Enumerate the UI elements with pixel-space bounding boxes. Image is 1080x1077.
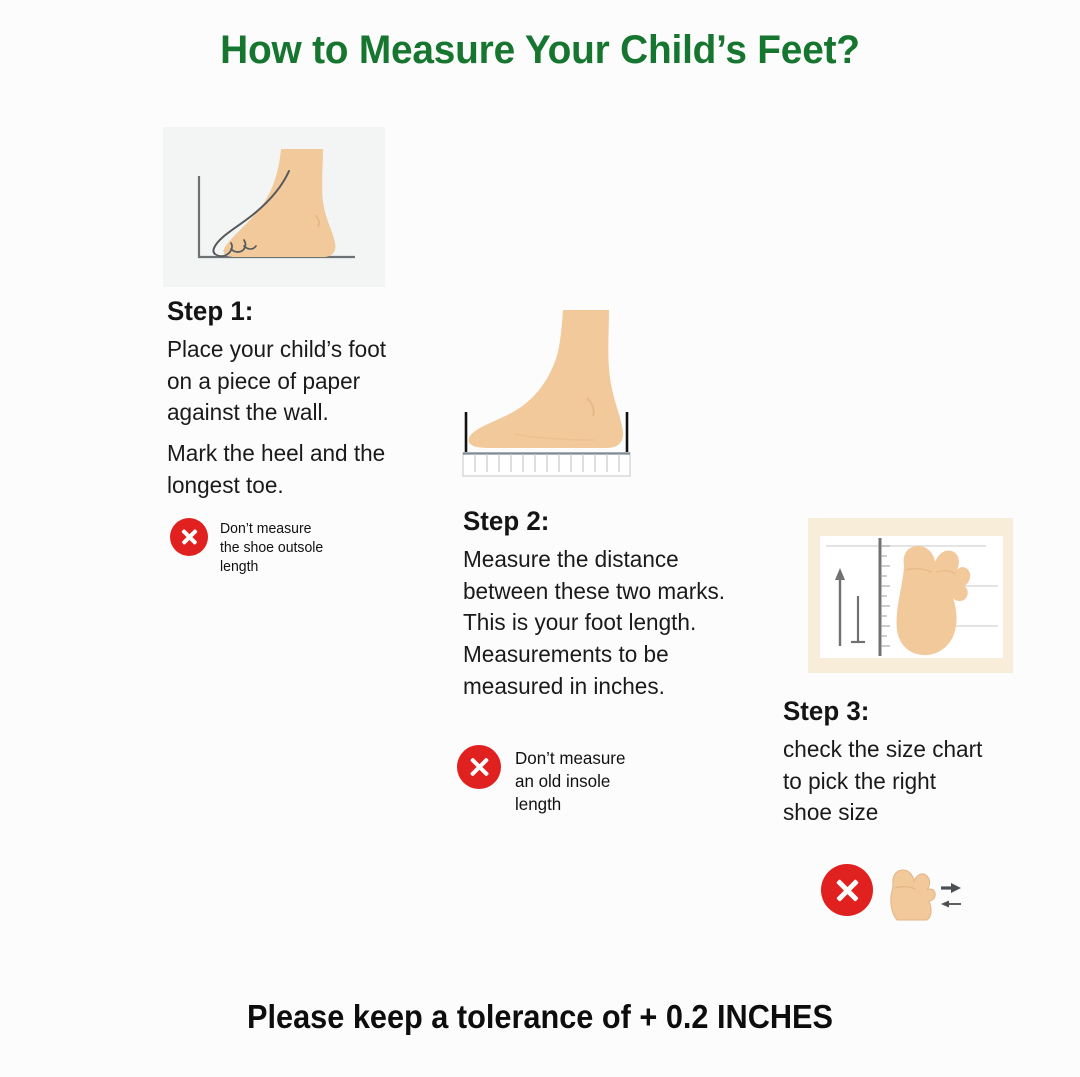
- step-1-line-5: longest toe.: [167, 470, 426, 502]
- step-1-warning-line-1: Don’t measure: [220, 520, 323, 539]
- red-x-circle-icon: [457, 745, 501, 789]
- step-1-line-2: on a piece of paper: [167, 366, 426, 398]
- step-2-heading: Step 2:: [463, 508, 780, 535]
- step-1-heading: Step 1:: [167, 298, 426, 325]
- step-3-line-2: to pick the right: [783, 766, 1033, 798]
- red-x-circle-icon: [821, 864, 873, 916]
- step-3-text: Step 3: check the size chart to pick the…: [783, 698, 1043, 829]
- step-1-text: Step 1: Place your child’s foot on a pie…: [167, 298, 437, 502]
- step-1-illustration: [163, 127, 385, 287]
- step-3-line-1: check the size chart: [783, 734, 1033, 766]
- step-1-line-3: against the wall.: [167, 397, 426, 429]
- step-2-warning-line-3: length: [515, 793, 625, 816]
- step-3-heading: Step 3:: [783, 698, 1033, 725]
- step-2-warning-line-1: Don’t measure: [515, 747, 625, 770]
- step-2-text: Step 2: Measure the distance between the…: [463, 508, 793, 703]
- step-3-illustration: [808, 518, 1013, 673]
- step-3-warning: [821, 864, 963, 927]
- step-2-line-1: Measure the distance: [463, 544, 780, 576]
- step-2-line-3: This is your foot length.: [463, 607, 780, 639]
- red-x-circle-icon: [170, 518, 208, 556]
- step-2-illustration: [455, 300, 695, 485]
- step-1-warning-text: Don’t measure the shoe outsole length: [220, 518, 326, 577]
- step-1-line-4: Mark the heel and the: [167, 438, 426, 470]
- step-2-warning: Don’t measure an old insole length: [457, 745, 629, 816]
- step-1-line-1: Place your child’s foot: [167, 334, 426, 366]
- step-1-warning-line-2: the shoe outsole: [220, 539, 323, 558]
- step-1-warning: Don’t measure the shoe outsole length: [170, 518, 326, 577]
- foot-sole-with-scale-svg: [808, 518, 1013, 673]
- foot-sole-with-arrows-icon: [885, 864, 963, 927]
- step-2-line-5: measured in inches.: [463, 671, 780, 703]
- page-title: How to Measure Your Child’s Feet?: [16, 28, 1064, 73]
- step-2-line-4: Measurements to be: [463, 639, 780, 671]
- step-2-line-2: between these two marks.: [463, 576, 780, 608]
- tolerance-note: Please keep a tolerance of + 0.2 INCHES: [38, 998, 1042, 1036]
- step-1-warning-line-3: length: [220, 558, 323, 577]
- foot-side-view-against-wall-svg: [163, 127, 385, 287]
- infographic-page: How to Measure Your Child’s Feet? Step 1…: [0, 0, 1080, 1077]
- step-2-warning-text: Don’t measure an old insole length: [515, 745, 629, 816]
- foot-sole-with-arrows-svg: [885, 864, 963, 922]
- foot-side-view-with-ruler-svg: [455, 300, 695, 485]
- step-3-line-3: shoe size: [783, 797, 1033, 829]
- step-2-warning-line-2: an old insole: [515, 770, 625, 793]
- step-1-text-gap: [167, 429, 437, 438]
